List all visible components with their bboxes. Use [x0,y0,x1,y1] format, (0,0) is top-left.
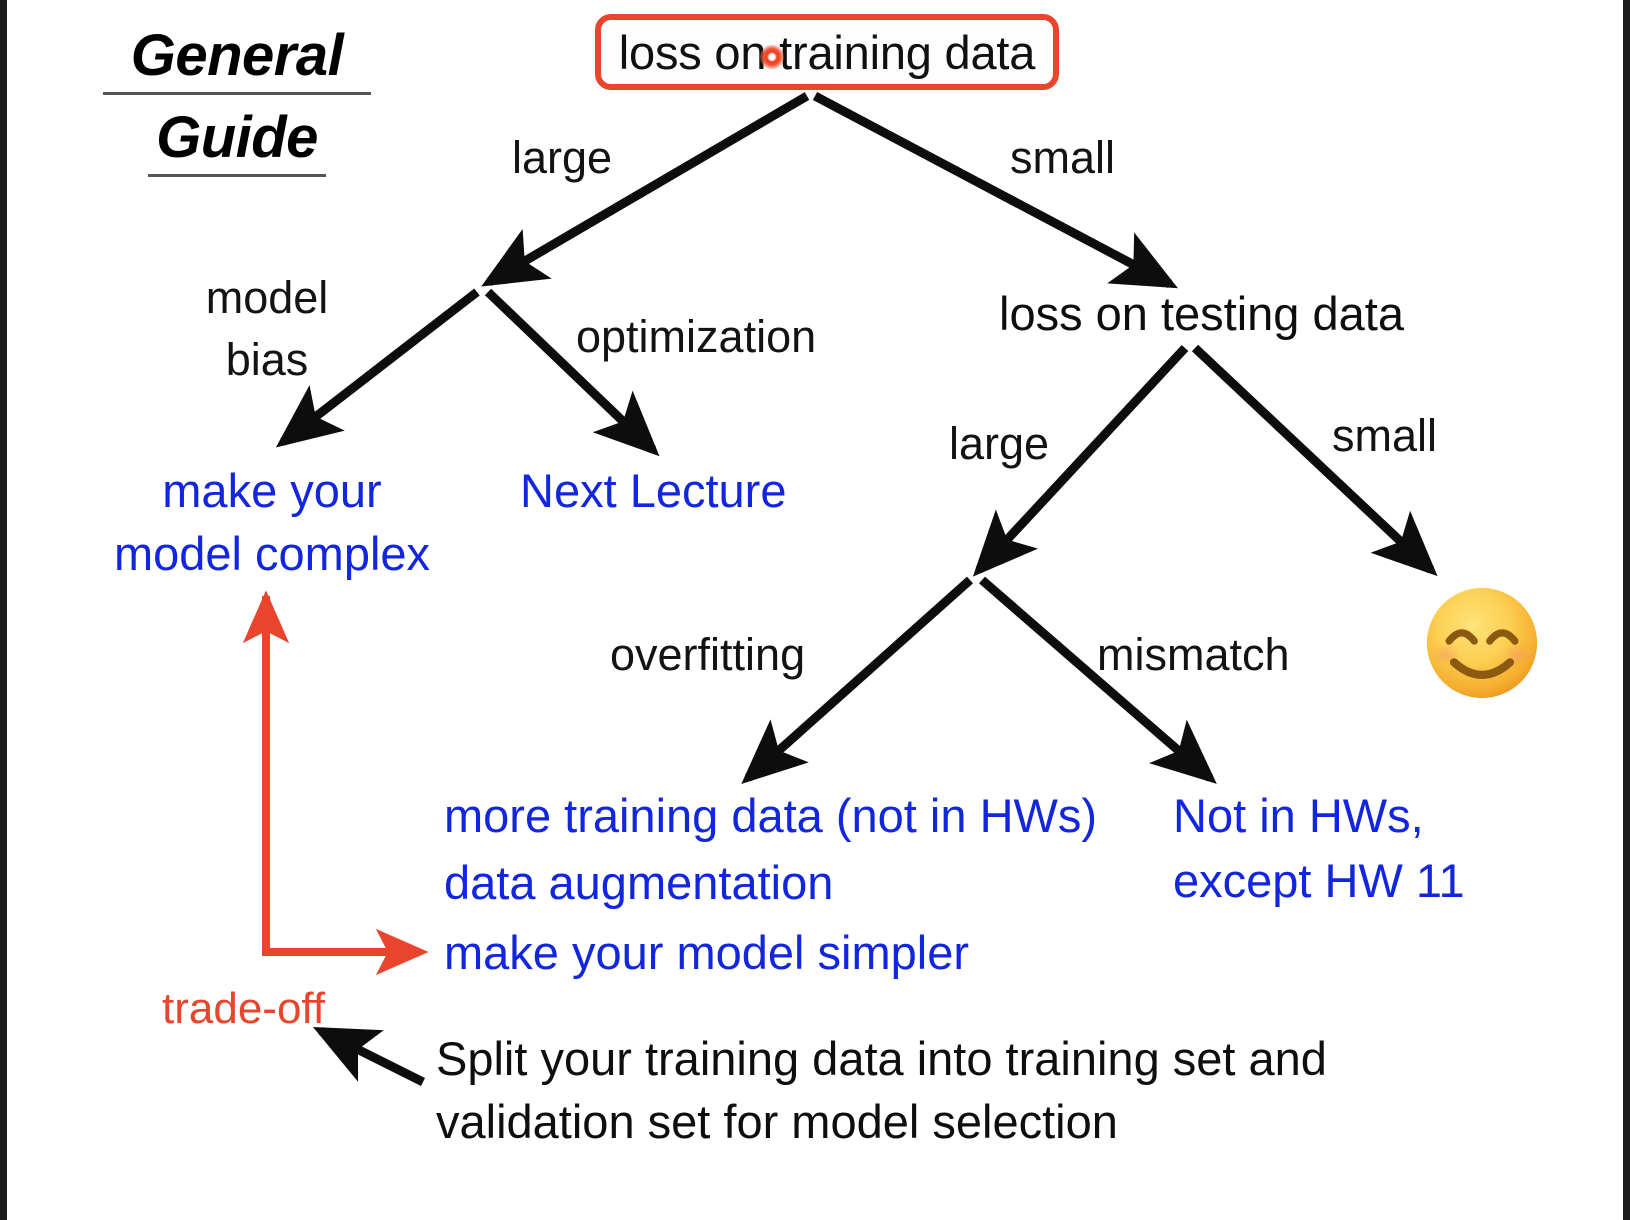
annotation-split-note-line2: validation set for model selection [436,1096,1118,1149]
edge-label-root-large: large [512,133,612,183]
edge-root-to-right [815,96,1170,284]
edge-splitnote-to-tradeoff [321,1031,423,1082]
node-data-augmentation[interactable]: data augmentation [444,857,833,910]
page-title-line-2: Guide [148,104,326,177]
smiling-face-emoji-icon [1424,585,1540,701]
page-title-line-1: General [103,22,371,95]
edge-label-mismatch: mismatch [1097,630,1290,680]
edge-label-model-bias-line1: model [187,273,347,323]
slide-canvas: General Guide loss on training data larg… [0,0,1630,1220]
node-loss-on-training-data-label: loss on training data [619,25,1035,80]
node-make-model-simpler[interactable]: make your model simpler [444,927,969,980]
edge-label-testing-small: small [1332,411,1437,461]
edge-label-root-small: small [1010,133,1115,183]
node-not-in-hws-line2[interactable]: except HW 11 [1173,855,1465,908]
node-loss-on-testing-data[interactable]: loss on testing data [999,288,1404,341]
page-title: General Guide [103,22,371,186]
edge-label-model-bias-line2: bias [187,335,347,385]
node-loss-on-training-data[interactable]: loss on training data [595,14,1059,90]
annotation-split-note-line1: Split your training data into training s… [436,1033,1327,1086]
node-more-training-data[interactable]: more training data (not in HWs) [444,790,1097,843]
node-next-lecture[interactable]: Next Lecture [520,465,786,518]
laser-pointer-dot-icon [760,45,784,69]
edge-label-overfitting: overfitting [610,630,805,680]
node-make-model-complex-line1[interactable]: make your [102,465,442,518]
edge-label-optimization: optimization [576,312,816,362]
edge-label-testing-large: large [949,419,1049,469]
node-not-in-hws-line1[interactable]: Not in HWs, [1173,790,1424,843]
edge-root-to-left [489,96,807,282]
annotation-trade-off: trade-off [162,984,325,1033]
node-make-model-complex-line2[interactable]: model complex [102,528,442,581]
